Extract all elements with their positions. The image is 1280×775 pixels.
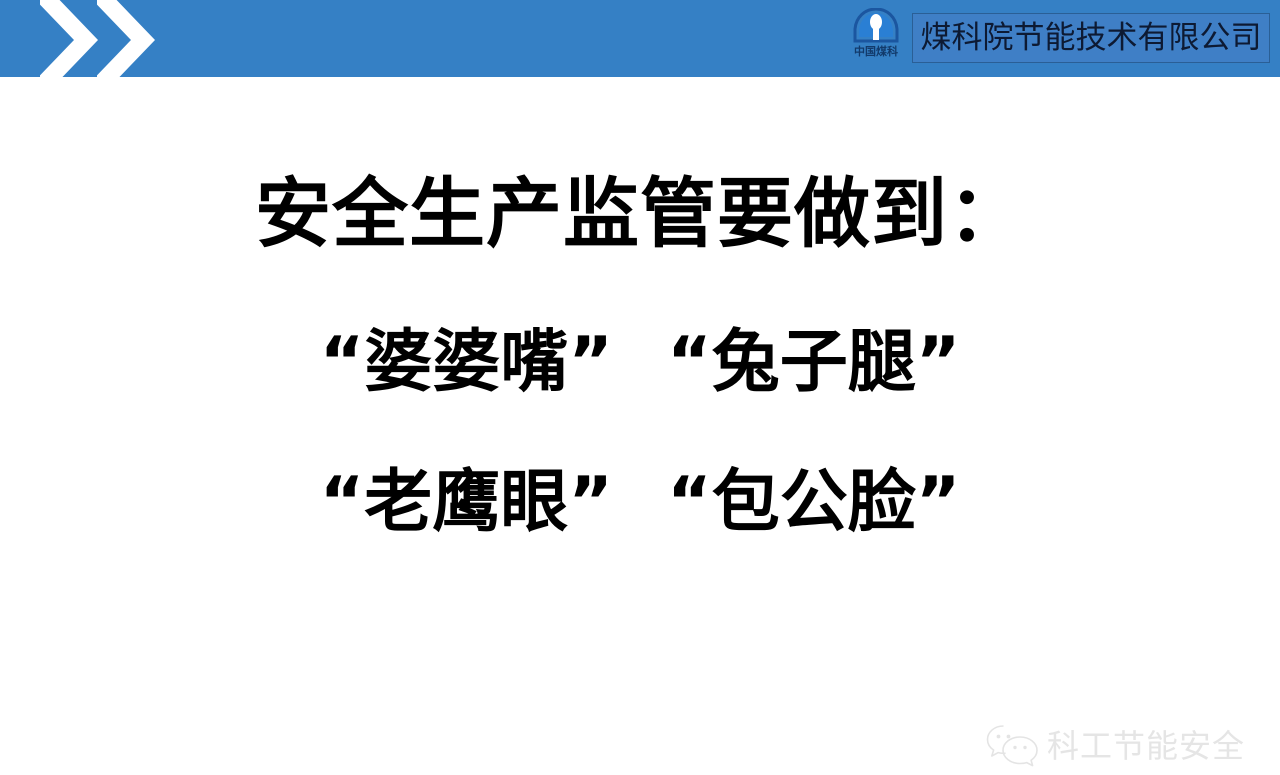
slide-headline: 安全生产监管要做到： [0,169,1280,259]
company-name-label: 煤科院节能技术有限公司 [921,21,1262,55]
china-coal-logo-icon [852,8,900,46]
double-chevron-right-icon [40,0,190,77]
phrase-row-2: “老鹰眼”“包公脸” [0,461,1280,545]
slide-body: 安全生产监管要做到： “婆婆嘴”“兔子腿” “老鹰眼”“包公脸” 科工节能安全 [0,77,1280,720]
phrase-baogonglian: “包公脸” [667,461,960,545]
china-coal-logo-caption: 中国煤科 [843,45,909,58]
header-bar: 中国煤科 煤科院节能技术有限公司 [0,0,1280,77]
wechat-watermark: 科工节能安全 [985,717,1253,775]
company-name-box[interactable]: 煤科院节能技术有限公司 [912,13,1270,63]
phrase-row-1: “婆婆嘴”“兔子腿” [0,321,1280,405]
wechat-icon [985,723,1039,769]
chevron-right-icon-2 [97,0,183,77]
phrase-laoyingyan: “老鹰眼” [320,461,613,545]
phrase-tuzitui: “兔子腿” [667,321,960,405]
china-coal-logo: 中国煤科 [843,8,909,68]
watermark-label: 科工节能安全 [1047,728,1245,764]
phrase-popozui: “婆婆嘴” [320,321,613,405]
